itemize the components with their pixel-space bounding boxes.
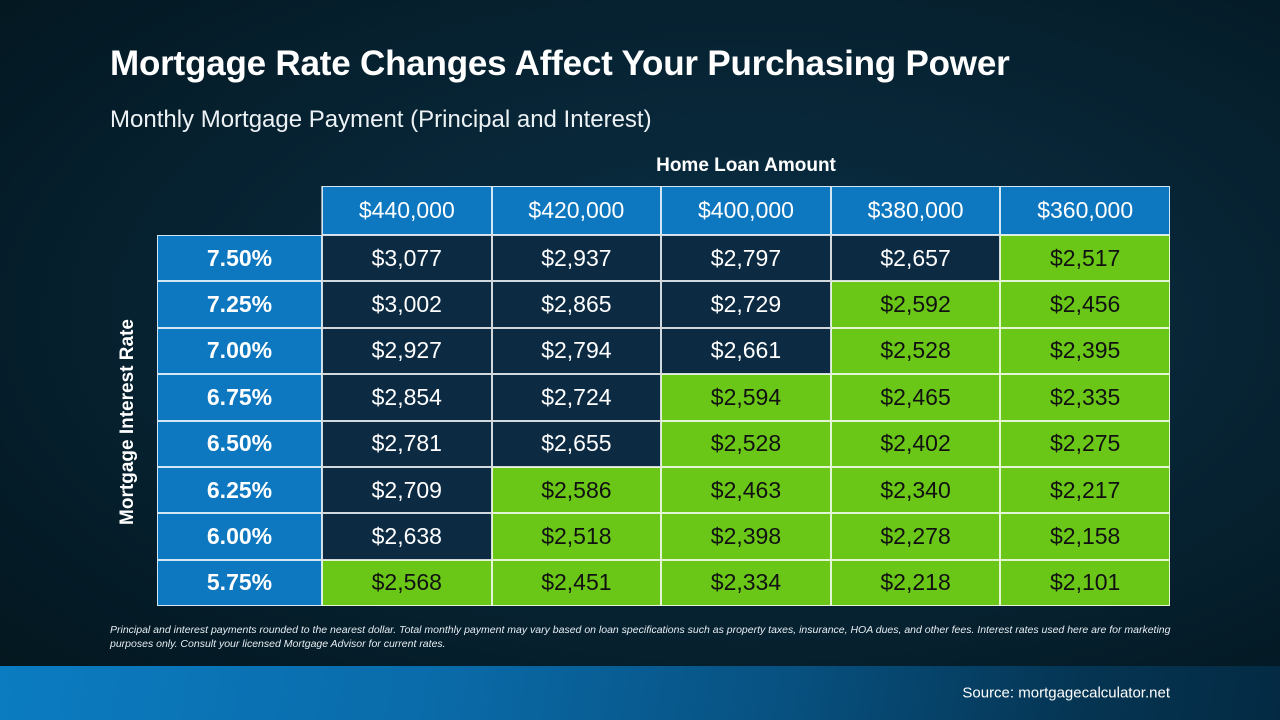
slide-canvas: Mortgage Rate Changes Affect Your Purcha…	[0, 0, 1280, 720]
table-row: 6.25%$2,709$2,586$2,463$2,340$2,217	[157, 467, 1170, 513]
payment-cell-r3-c1[interactable]: $2,927	[322, 328, 492, 374]
payment-cell-r4-c1[interactable]: $2,854	[322, 374, 492, 420]
payment-cell-r7-c4[interactable]: $2,278	[831, 513, 1001, 559]
payment-cell-r8-c2[interactable]: $2,451	[492, 560, 662, 606]
payment-cell-r1-c4[interactable]: $2,657	[831, 235, 1001, 281]
payment-cell-r5-c4[interactable]: $2,402	[831, 421, 1001, 467]
payment-cell-r4-c5[interactable]: $2,335	[1000, 374, 1170, 420]
row-header-6[interactable]: 6.25%	[157, 467, 322, 513]
row-header-5[interactable]: 6.50%	[157, 421, 322, 467]
row-header-7[interactable]: 6.00%	[157, 513, 322, 559]
payment-cell-r5-c2[interactable]: $2,655	[492, 421, 662, 467]
payment-cell-r4-c4[interactable]: $2,465	[831, 374, 1001, 420]
page-title: Mortgage Rate Changes Affect Your Purcha…	[110, 44, 1010, 84]
table-row: 6.75%$2,854$2,724$2,594$2,465$2,335	[157, 374, 1170, 420]
payment-cell-r6-c5[interactable]: $2,217	[1000, 467, 1170, 513]
payment-cell-r5-c1[interactable]: $2,781	[322, 421, 492, 467]
payment-cell-r2-c4[interactable]: $2,592	[831, 281, 1001, 327]
payment-cell-r4-c3[interactable]: $2,594	[661, 374, 831, 420]
row-header-8[interactable]: 5.75%	[157, 560, 322, 606]
footnote: Principal and interest payments rounded …	[110, 623, 1185, 652]
payment-cell-r8-c4[interactable]: $2,218	[831, 560, 1001, 606]
payment-cell-r8-c3[interactable]: $2,334	[661, 560, 831, 606]
payment-cell-r5-c5[interactable]: $2,275	[1000, 421, 1170, 467]
column-header-5[interactable]: $360,000	[1000, 186, 1170, 235]
payment-cell-r5-c3[interactable]: $2,528	[661, 421, 831, 467]
payment-cell-r2-c2[interactable]: $2,865	[492, 281, 662, 327]
payment-cell-r6-c1[interactable]: $2,709	[322, 467, 492, 513]
payment-cell-r3-c5[interactable]: $2,395	[1000, 328, 1170, 374]
row-header-3[interactable]: 7.00%	[157, 328, 322, 374]
table-row: 6.00%$2,638$2,518$2,398$2,278$2,158	[157, 513, 1170, 559]
page-subtitle: Monthly Mortgage Payment (Principal and …	[110, 106, 652, 134]
payment-cell-r7-c3[interactable]: $2,398	[661, 513, 831, 559]
payment-cell-r3-c2[interactable]: $2,794	[492, 328, 662, 374]
row-header-2[interactable]: 7.25%	[157, 281, 322, 327]
payment-cell-r1-c1[interactable]: $3,077	[322, 235, 492, 281]
payment-cell-r2-c1[interactable]: $3,002	[322, 281, 492, 327]
table-row: 5.75%$2,568$2,451$2,334$2,218$2,101	[157, 560, 1170, 606]
payment-cell-r6-c3[interactable]: $2,463	[661, 467, 831, 513]
payment-cell-r4-c2[interactable]: $2,724	[492, 374, 662, 420]
payment-cell-r6-c2[interactable]: $2,586	[492, 467, 662, 513]
row-header-1[interactable]: 7.50%	[157, 235, 322, 281]
column-header-1[interactable]: $440,000	[322, 186, 492, 235]
payment-cell-r3-c3[interactable]: $2,661	[661, 328, 831, 374]
payment-cell-r3-c4[interactable]: $2,528	[831, 328, 1001, 374]
payment-matrix: $440,000$420,000$400,000$380,000$360,000…	[157, 186, 1170, 606]
payment-cell-r6-c4[interactable]: $2,340	[831, 467, 1001, 513]
column-header-2[interactable]: $420,000	[492, 186, 662, 235]
column-header-3[interactable]: $400,000	[661, 186, 831, 235]
row-header-4[interactable]: 6.75%	[157, 374, 322, 420]
matrix-corner-cell	[157, 186, 322, 235]
payment-cell-r8-c1[interactable]: $2,568	[322, 560, 492, 606]
table-row: 6.50%$2,781$2,655$2,528$2,402$2,275	[157, 421, 1170, 467]
table-row: 7.25%$3,002$2,865$2,729$2,592$2,456	[157, 281, 1170, 327]
payment-cell-r2-c5[interactable]: $2,456	[1000, 281, 1170, 327]
payment-cell-r7-c2[interactable]: $2,518	[492, 513, 662, 559]
table-row: 7.00%$2,927$2,794$2,661$2,528$2,395	[157, 328, 1170, 374]
table-row: 7.50%$3,077$2,937$2,797$2,657$2,517	[157, 235, 1170, 281]
payment-cell-r1-c5[interactable]: $2,517	[1000, 235, 1170, 281]
footer-bar: Source: mortgagecalculator.net	[0, 666, 1280, 720]
row-axis-title: Mortgage Interest Rate	[104, 238, 152, 606]
row-axis-title-label: Mortgage Interest Rate	[117, 319, 139, 525]
column-axis-title: Home Loan Amount	[322, 155, 1170, 177]
payment-cell-r8-c5[interactable]: $2,101	[1000, 560, 1170, 606]
payment-cell-r1-c3[interactable]: $2,797	[661, 235, 831, 281]
payment-cell-r1-c2[interactable]: $2,937	[492, 235, 662, 281]
payment-cell-r2-c3[interactable]: $2,729	[661, 281, 831, 327]
column-header-4[interactable]: $380,000	[831, 186, 1001, 235]
matrix-header-row: $440,000$420,000$400,000$380,000$360,000	[157, 186, 1170, 235]
source-label: Source: mortgagecalculator.net	[962, 685, 1170, 702]
payment-cell-r7-c1[interactable]: $2,638	[322, 513, 492, 559]
payment-cell-r7-c5[interactable]: $2,158	[1000, 513, 1170, 559]
